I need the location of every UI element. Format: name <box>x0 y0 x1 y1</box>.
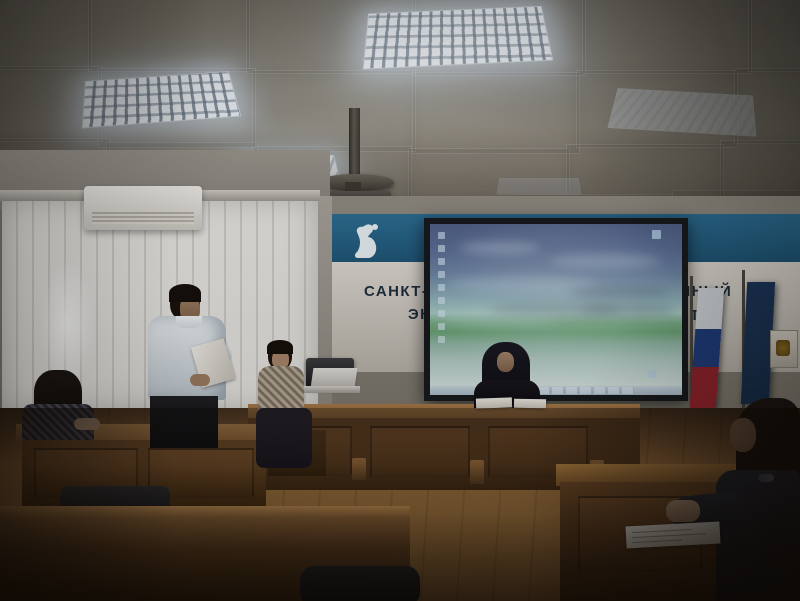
standing-presenter-hand <box>190 374 210 386</box>
seated-woman-laptop-top <box>258 366 304 412</box>
university-emblem-figure-icon <box>348 220 384 262</box>
desk-paper-left <box>476 397 512 408</box>
air-conditioner-grill <box>92 212 194 224</box>
laptop-keyboard[interactable] <box>304 386 360 393</box>
seated-woman-center-face <box>497 352 514 372</box>
desk-paper-right <box>514 399 546 409</box>
conference-room-photo: САНКТ-ПЕ ЭКО ЕННЫЙ Т <box>0 0 800 601</box>
desktop-icon-column <box>436 230 450 340</box>
projection-light-glow <box>430 224 682 395</box>
desktop-icon-top-right[interactable] <box>652 230 661 239</box>
standing-presenter-hair <box>169 284 201 302</box>
wall-emblem-icon <box>776 340 790 356</box>
projector-mount-pole <box>349 108 360 180</box>
standing-presenter-collar <box>176 316 202 328</box>
laptop-screen <box>311 368 358 388</box>
desktop-icon-bottom-right[interactable] <box>648 370 656 378</box>
taskbar-buttons[interactable] <box>524 387 634 394</box>
floor-shading <box>0 408 800 601</box>
seated-woman-laptop-hair <box>267 340 293 354</box>
